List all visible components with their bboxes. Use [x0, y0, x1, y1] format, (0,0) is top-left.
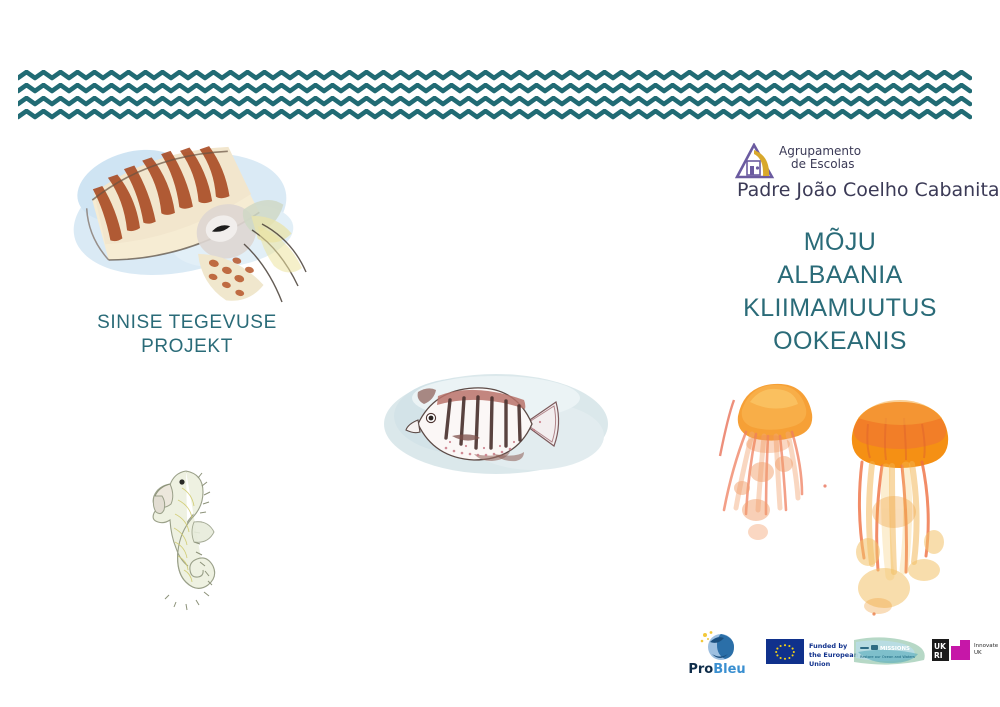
- left-caption-line1: SINISE TEGEVUSE: [62, 311, 312, 335]
- ukri-mark-icon: UK RI: [932, 638, 972, 662]
- eu-flag-icon: [766, 639, 804, 664]
- jellyfish-right-illustration: [838, 392, 964, 618]
- fish-illustration: [374, 358, 618, 492]
- wave-row: [18, 109, 972, 120]
- title-line2: ALBAANIA: [690, 259, 990, 292]
- left-caption: SINISE TEGEVUSE PROJEKT: [62, 311, 312, 359]
- school-logo-agrupamento: Agrupamento de Escolas: [779, 145, 861, 170]
- school-name: Padre João Coelho Cabanita: [737, 179, 1000, 201]
- eu-missions-mark-icon: MISSIONS Restore our Ocean and Waters: [854, 636, 926, 668]
- svg-text:MISSIONS: MISSIONS: [880, 646, 910, 652]
- probleu-globe-icon: [698, 630, 738, 662]
- probleu-word-bleu: Bleu: [713, 662, 745, 677]
- svg-text:UK: UK: [934, 642, 947, 651]
- school-logo: Agrupamento de Escolas Padre João Coelho…: [735, 143, 940, 205]
- wave-row: [18, 96, 972, 107]
- svg-text:Restore our Ocean and Waters: Restore our Ocean and Waters: [860, 655, 915, 659]
- de-escolas-line: de Escolas: [779, 158, 861, 171]
- left-caption-line2: PROJEKT: [62, 335, 312, 359]
- probleu-wordmark: ProBleu: [686, 662, 748, 677]
- ukri-logo: UK RI Innovate UK: [932, 638, 986, 666]
- poster-canvas: SINISE TEGEVUSE PROJEKT Agrupamento de E…: [0, 0, 1000, 707]
- eu-missions-logo: MISSIONS Restore our Ocean and Waters: [854, 636, 926, 668]
- school-crest-icon: [735, 143, 775, 181]
- probleu-logo: ProBleu: [686, 630, 748, 680]
- agrupamento-line: Agrupamento: [779, 145, 861, 158]
- seahorse-illustration: [142, 462, 228, 620]
- ukri-innovate-line1: Innovate: [974, 643, 998, 650]
- title-line4: OOKEANIS: [690, 325, 990, 358]
- ukri-innovate-line2: UK: [974, 650, 998, 657]
- cuttlefish-illustration: [52, 126, 308, 318]
- title-line3: KLIIMAMUUTUS: [690, 292, 990, 325]
- wave-row: [18, 83, 972, 94]
- probleu-word-pro: Pro: [688, 662, 713, 677]
- page-title: MÕJU ALBAANIA KLIIMAMUUTUS OOKEANIS: [690, 226, 990, 358]
- wave-band-decoration: [18, 70, 972, 120]
- ukri-innovate-label: Innovate UK: [974, 643, 998, 658]
- title-line1: MÕJU: [690, 226, 990, 259]
- footer-logo-strip: ProBleu: [686, 630, 986, 682]
- eu-funding-logo: Funded by the European Union: [766, 639, 861, 665]
- wave-row: [18, 70, 972, 81]
- svg-text:RI: RI: [934, 651, 943, 660]
- jellyfish-left-illustration: [712, 372, 836, 558]
